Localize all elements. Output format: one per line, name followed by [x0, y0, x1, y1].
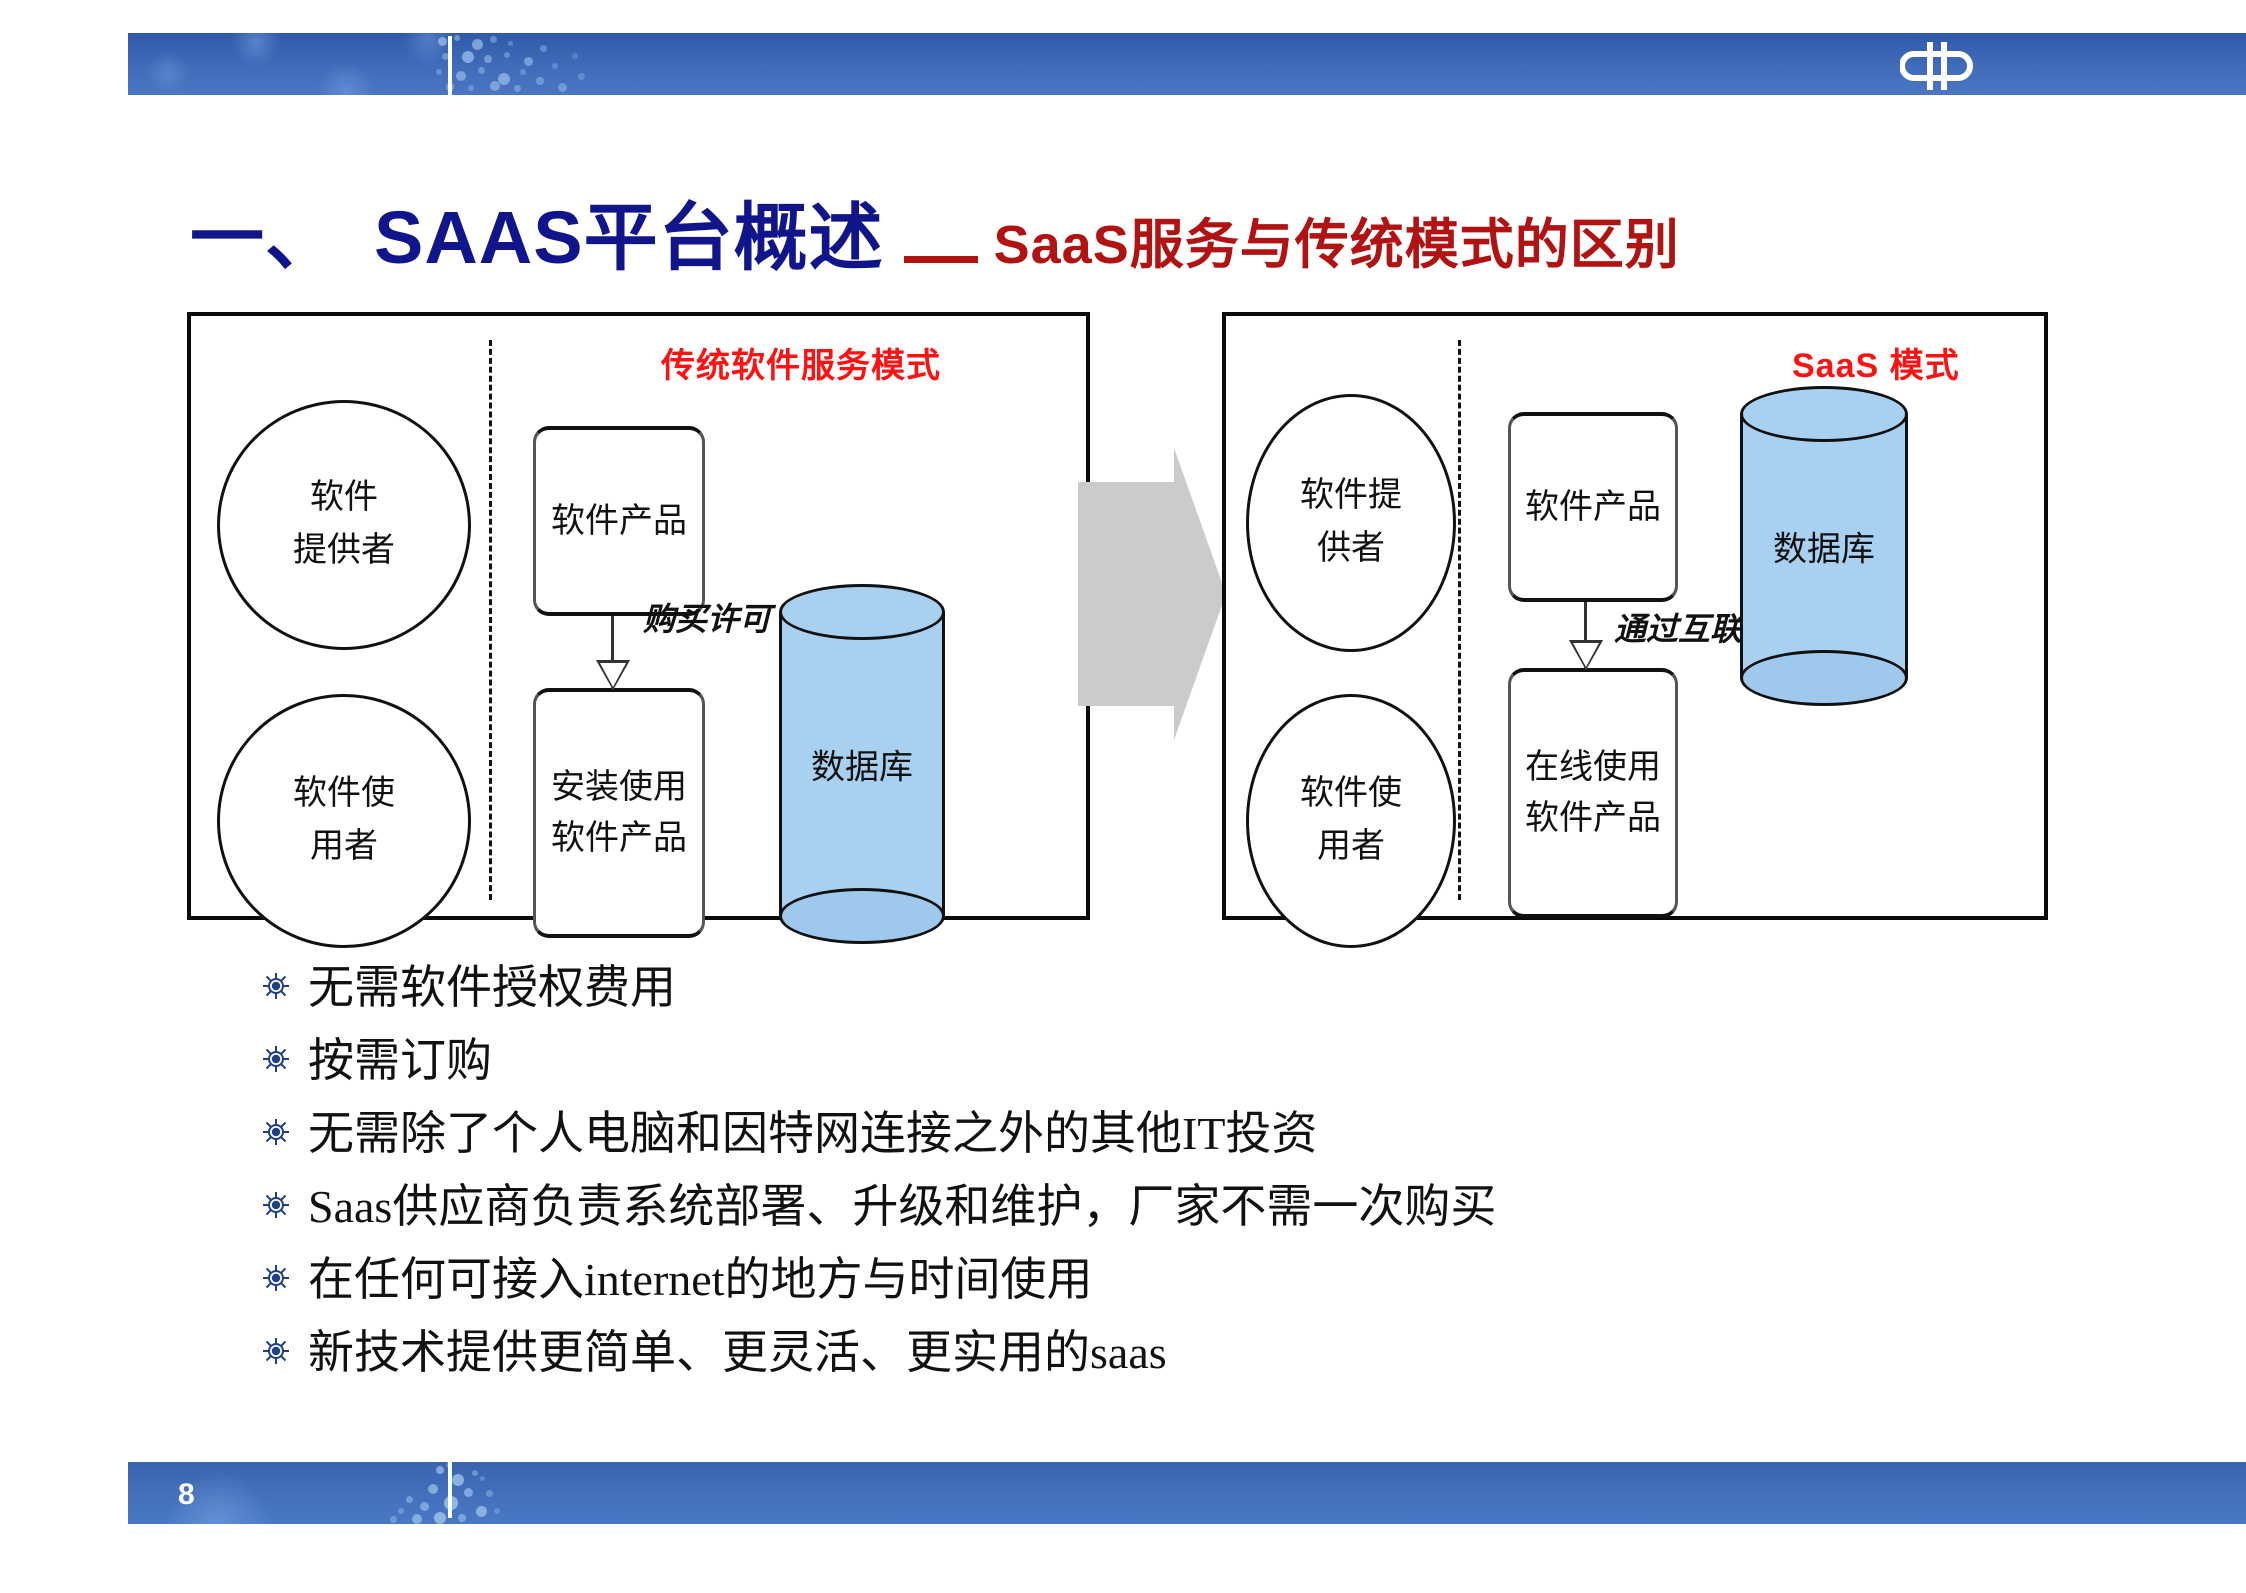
- title-prefix: 一、: [190, 178, 340, 285]
- company-logo-icon: [1900, 38, 1980, 94]
- flower-bullet-icon: [258, 1260, 294, 1312]
- list-item: 新技术提供更简单、更灵活、更实用的saas: [258, 1327, 2058, 1379]
- saas-arrow-label: 通过互联网租用: [1614, 604, 1838, 650]
- traditional-install-box: 安装使用 软件产品: [533, 688, 705, 938]
- traditional-install-line1: 安装使用: [551, 762, 687, 813]
- traditional-database-label: 数据库: [779, 740, 945, 789]
- saas-provider-line1: 软件提: [1300, 470, 1402, 523]
- title-dash-rule: [904, 256, 978, 263]
- saas-software-product-box: 软件产品: [1508, 412, 1678, 602]
- list-item-label: 按需订购: [308, 1035, 492, 1087]
- page-number: 8: [178, 1478, 195, 1512]
- list-item-label: 无需软件授权费用: [308, 962, 676, 1014]
- left-panel-divider: [489, 340, 492, 900]
- traditional-arrow-label: 购买许可: [643, 594, 771, 640]
- list-item-label: Saas供应商负责系统部署、升级和维护，厂家不需一次购买: [308, 1181, 1496, 1233]
- list-item-label: 无需除了个人电脑和因特网连接之外的其他IT投资: [308, 1108, 1317, 1160]
- traditional-user-ellipse: 软件使 用者: [217, 694, 471, 948]
- flower-bullet-icon: [258, 1187, 294, 1239]
- list-item: 在任何可接入internet的地方与时间使用: [258, 1254, 2058, 1306]
- flower-bullet-icon: [258, 1041, 294, 1093]
- title-main: SAAS平台概述: [374, 178, 884, 285]
- saas-provider-ellipse: 软件提 供者: [1246, 394, 1456, 652]
- traditional-model-title: 传统软件服务模式: [661, 338, 941, 387]
- flower-bullet-icon: [258, 1114, 294, 1166]
- benefits-bullet-list: 无需软件授权费用 按需订购: [258, 962, 2058, 1400]
- list-item: 按需订购: [258, 1035, 2058, 1087]
- traditional-software-product-box: 软件产品: [533, 426, 705, 616]
- saas-model-title: SaaS 模式: [1792, 338, 1960, 387]
- right-block-arrow-icon: [1078, 448, 1226, 740]
- saas-online-line2: 软件产品: [1525, 793, 1661, 844]
- traditional-provider-line2: 提供者: [293, 525, 395, 578]
- list-item: Saas供应商负责系统部署、升级和维护，厂家不需一次购买: [258, 1181, 2058, 1233]
- list-item: 无需软件授权费用: [258, 962, 2058, 1014]
- saas-provider-line2: 供者: [1317, 523, 1385, 576]
- traditional-provider-line1: 软件: [310, 472, 378, 525]
- right-panel-divider: [1458, 340, 1461, 900]
- flower-bullet-icon: [258, 1333, 294, 1385]
- traditional-user-line2: 用者: [310, 821, 378, 874]
- saas-user-line2: 用者: [1317, 821, 1385, 874]
- traditional-model-panel: 传统软件服务模式 软件 提供者 软件使 用者 软件产品 安装使用 软件产品 购买…: [187, 312, 1090, 920]
- header-divider-rule: [448, 36, 452, 96]
- flower-bullet-icon: [258, 968, 294, 1020]
- footer-dot-pattern: [376, 1462, 536, 1524]
- list-item: 无需除了个人电脑和因特网连接之外的其他IT投资: [258, 1108, 2058, 1160]
- page-title: 一、 SAAS平台概述 SaaS服务与传统模式的区别: [190, 178, 2090, 262]
- saas-online-use-box: 在线使用 软件产品: [1508, 668, 1678, 918]
- saas-online-line1: 在线使用: [1525, 742, 1661, 793]
- footer-divider-rule: [448, 1462, 452, 1518]
- saas-database-label: 数据库: [1740, 522, 1908, 571]
- saas-user-line1: 软件使: [1300, 768, 1402, 821]
- slide-footer-band: [128, 1462, 2246, 1524]
- traditional-database-cylinder: 数据库: [779, 584, 945, 944]
- header-dot-pattern: [428, 33, 598, 95]
- saas-database-cylinder: 数据库: [1740, 386, 1908, 706]
- saas-user-ellipse: 软件使 用者: [1246, 694, 1456, 948]
- traditional-install-line2: 软件产品: [551, 813, 687, 864]
- traditional-user-line1: 软件使: [293, 768, 395, 821]
- list-item-label: 新技术提供更简单、更灵活、更实用的saas: [308, 1327, 1167, 1379]
- traditional-provider-ellipse: 软件 提供者: [217, 400, 471, 650]
- list-item-label: 在任何可接入internet的地方与时间使用: [308, 1254, 1093, 1306]
- title-subtitle: SaaS服务与传统模式的区别: [994, 200, 1680, 279]
- saas-model-panel: SaaS 模式 软件提 供者 软件使 用者 软件产品 在线使用 软件产品 通过互…: [1222, 312, 2048, 920]
